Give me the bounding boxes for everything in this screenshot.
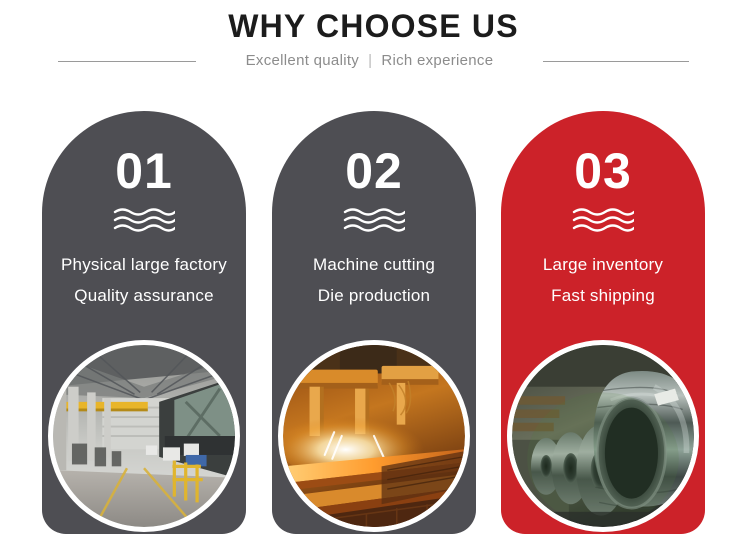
- divider-left: [58, 61, 196, 62]
- feature-card-02[interactable]: 02 Machine cutting Die production: [272, 111, 476, 534]
- card-line-2: Die production: [272, 280, 476, 311]
- why-choose-us-banner: WHY CHOOSE US Excellent quality|Rich exp…: [0, 0, 747, 554]
- photo-ring: [48, 340, 240, 532]
- card-text-block: Machine cutting Die production: [272, 249, 476, 311]
- wave-icon: [572, 207, 634, 233]
- card-line-1: Machine cutting: [272, 249, 476, 280]
- card-number: 03: [501, 143, 705, 199]
- page-title: WHY CHOOSE US: [0, 6, 747, 46]
- feature-card-01[interactable]: 01 Physical large factory Quality assura…: [42, 111, 246, 534]
- subtitle-separator: |: [359, 51, 381, 71]
- wave-icon: [343, 207, 405, 233]
- card-number: 01: [42, 143, 246, 199]
- header: WHY CHOOSE US Excellent quality|Rich exp…: [0, 0, 747, 100]
- feature-card-03[interactable]: 03 Large inventory Fast shipping: [501, 111, 705, 534]
- subtitle-left-text: Excellent quality: [246, 52, 360, 69]
- divider-right: [543, 61, 689, 62]
- steel-coils-photo: [512, 345, 694, 527]
- hot-steel-cutting-photo: [283, 345, 465, 527]
- card-line-2: Fast shipping: [501, 280, 705, 311]
- card-line-1: Large inventory: [501, 249, 705, 280]
- subtitle-row: Excellent quality|Rich experience: [0, 48, 747, 74]
- card-text-block: Physical large factory Quality assurance: [42, 249, 246, 311]
- card-line-1: Physical large factory: [42, 249, 246, 280]
- card-text-block: Large inventory Fast shipping: [501, 249, 705, 311]
- subtitle-right-text: Rich experience: [381, 52, 493, 69]
- factory-interior-photo: [53, 345, 235, 527]
- photo-ring: [507, 340, 699, 532]
- card-number: 02: [272, 143, 476, 199]
- feature-card-list: 01 Physical large factory Quality assura…: [0, 104, 747, 554]
- wave-icon: [113, 207, 175, 233]
- subtitle: Excellent quality|Rich experience: [246, 51, 494, 71]
- card-line-2: Quality assurance: [42, 280, 246, 311]
- photo-ring: [278, 340, 470, 532]
